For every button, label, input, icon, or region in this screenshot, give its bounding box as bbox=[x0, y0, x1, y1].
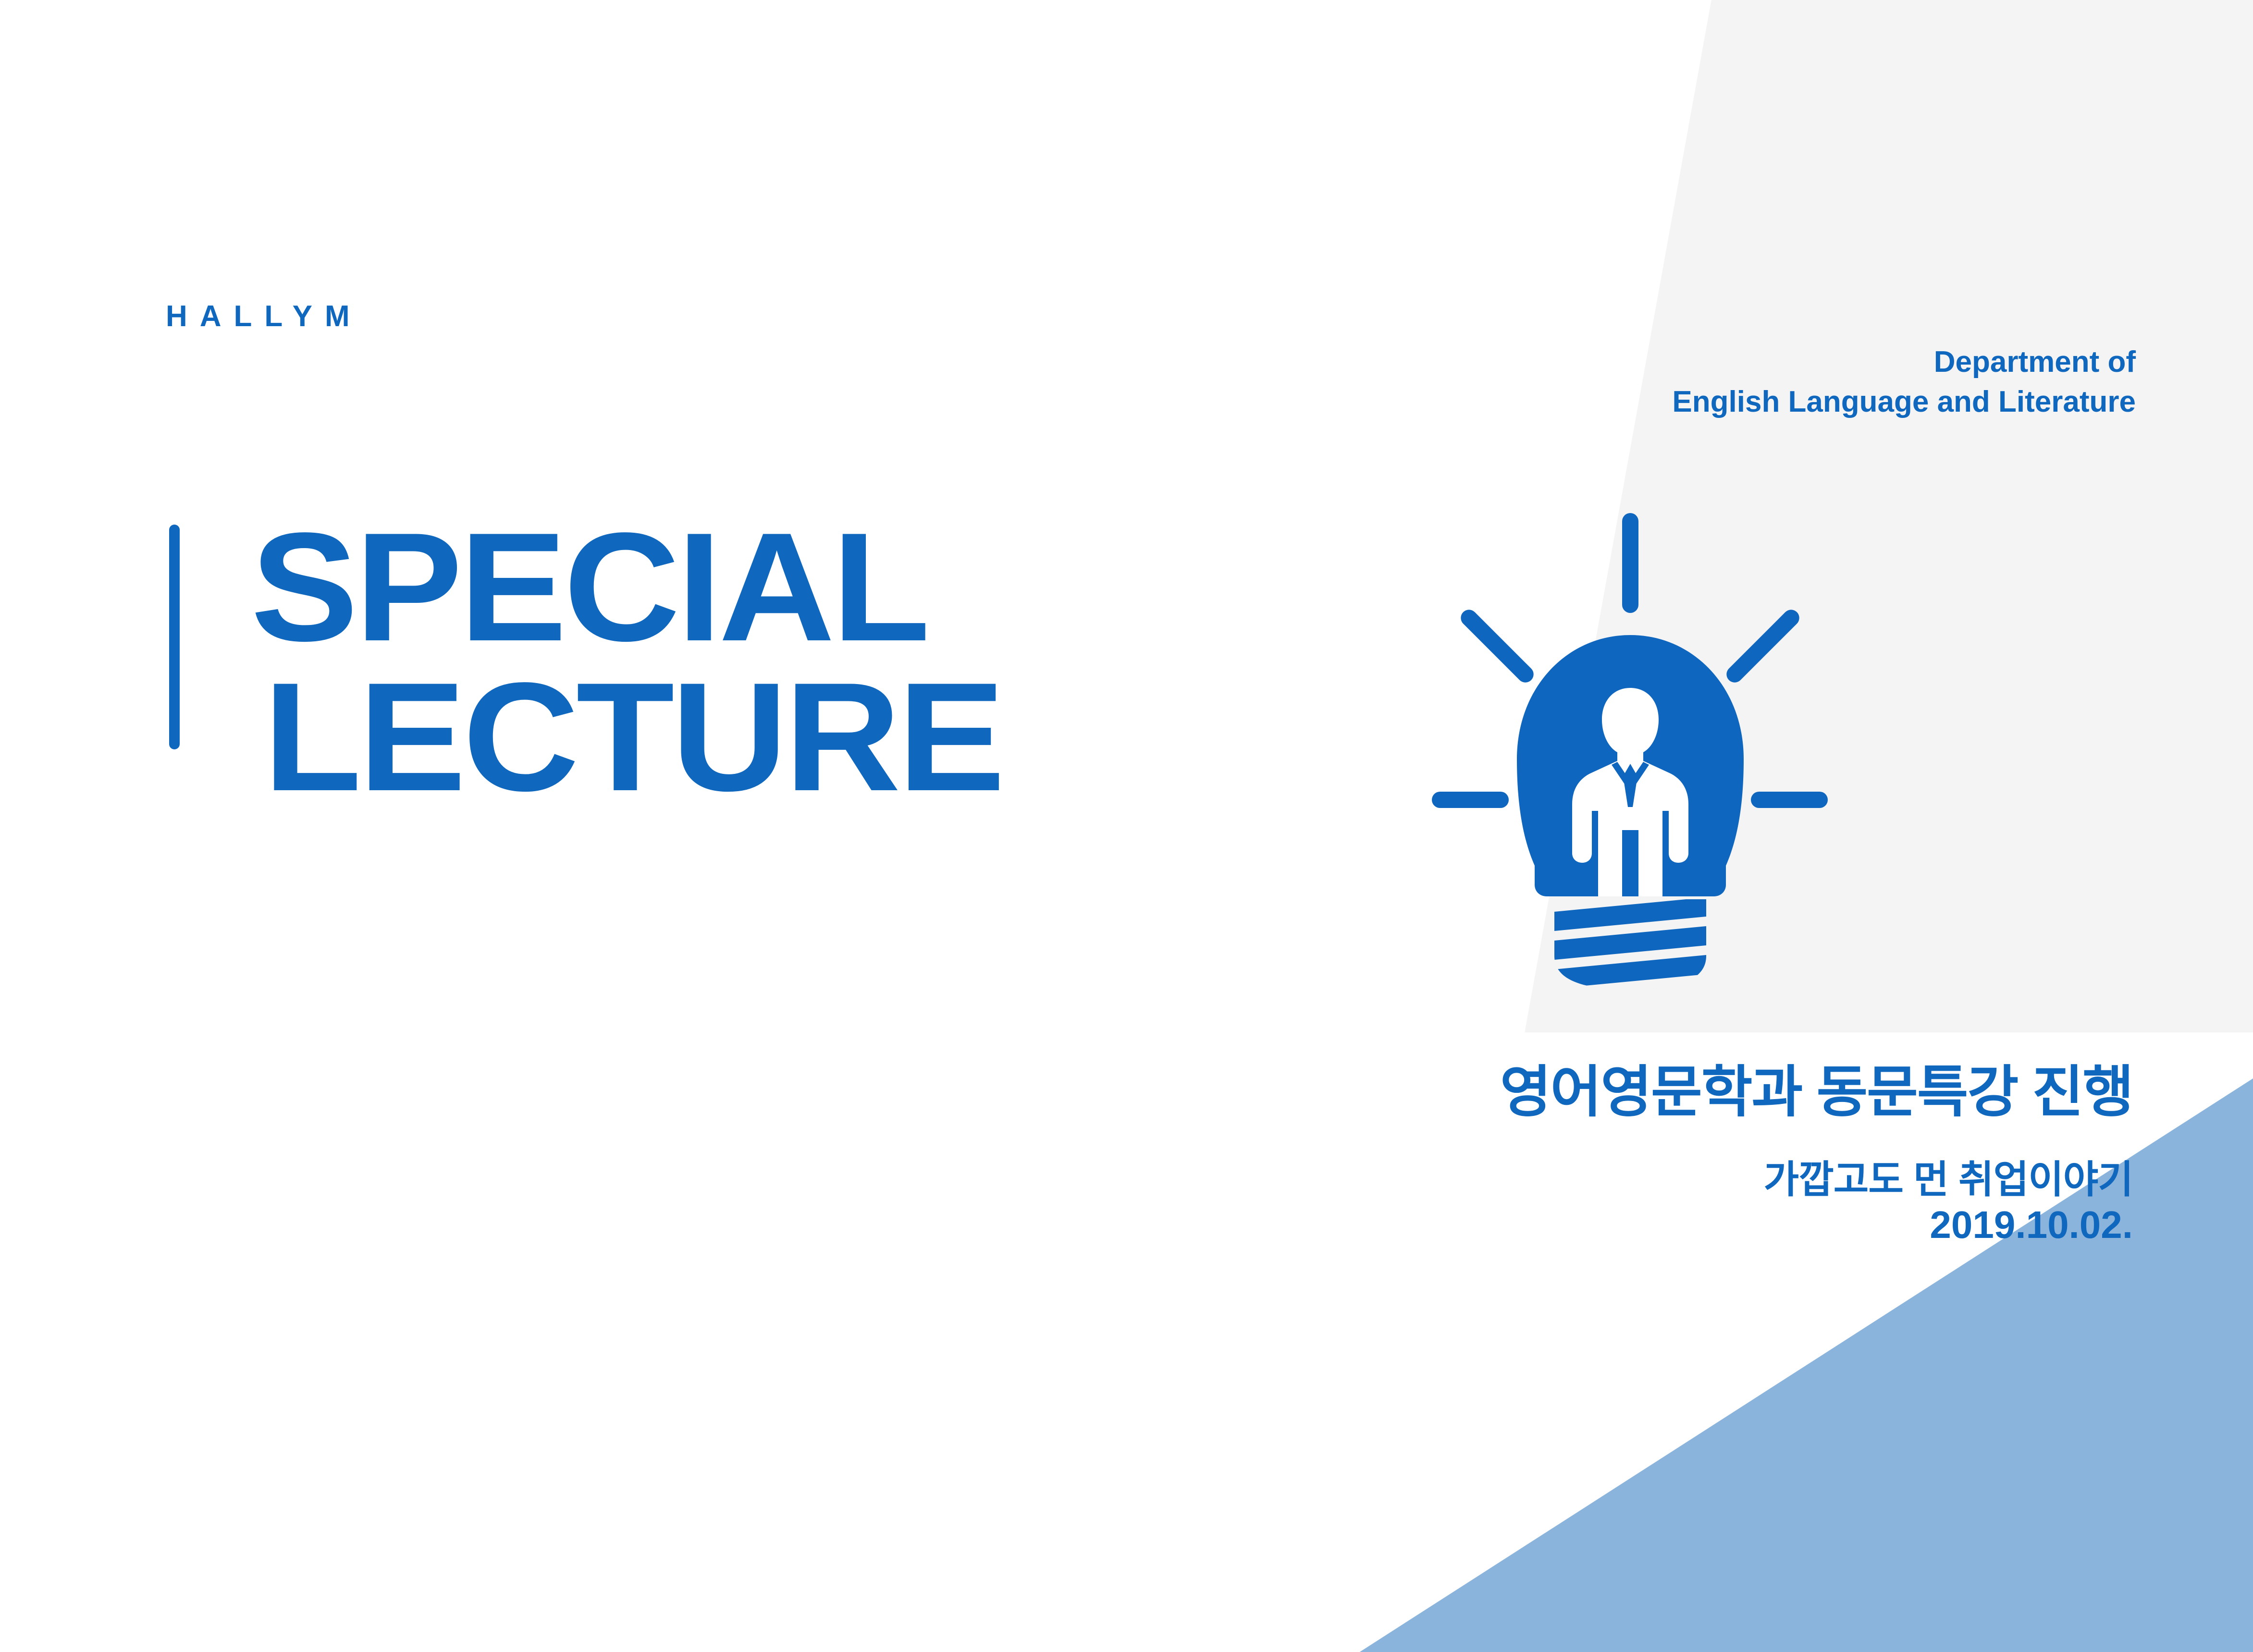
bulb-ray-upper-left bbox=[1457, 606, 1537, 685]
poster-canvas: HALLYM Department of English Language an… bbox=[0, 0, 2253, 1652]
department-line-1: Department of bbox=[1672, 342, 2136, 382]
bulb-ray-left bbox=[1432, 792, 1509, 808]
bulb-ray-right bbox=[1751, 792, 1828, 808]
event-headline: 영어영문학과 동문특강 진행 bbox=[1500, 1062, 2133, 1123]
page-title: SPECIAL LECTURE bbox=[169, 518, 974, 807]
hallym-wordmark: HALLYM bbox=[166, 302, 362, 331]
title-line-lecture: LECTURE bbox=[263, 668, 1002, 807]
title-vertical-rule bbox=[169, 525, 180, 749]
bulb-screw-base bbox=[1554, 897, 1706, 990]
department-line-2: English Language and Literature bbox=[1672, 382, 2136, 422]
event-date: 2019.10.02. bbox=[1500, 1204, 2133, 1246]
department-block: Department of English Language and Liter… bbox=[1672, 342, 2136, 422]
event-text-block: 영어영문학과 동문특강 진행 가깝고도 먼 취업이야기 2019.10.02. bbox=[1500, 1062, 2133, 1246]
title-line-special: SPECIAL bbox=[251, 518, 1003, 657]
event-subtitle: 가깝고도 먼 취업이야기 bbox=[1500, 1159, 2133, 1201]
bulb-ray-upper-right bbox=[1723, 606, 1802, 685]
title-words: SPECIAL LECTURE bbox=[251, 518, 974, 807]
lightbulb-businessman-icon bbox=[1418, 509, 1841, 990]
bulb-ray-top bbox=[1622, 513, 1638, 613]
